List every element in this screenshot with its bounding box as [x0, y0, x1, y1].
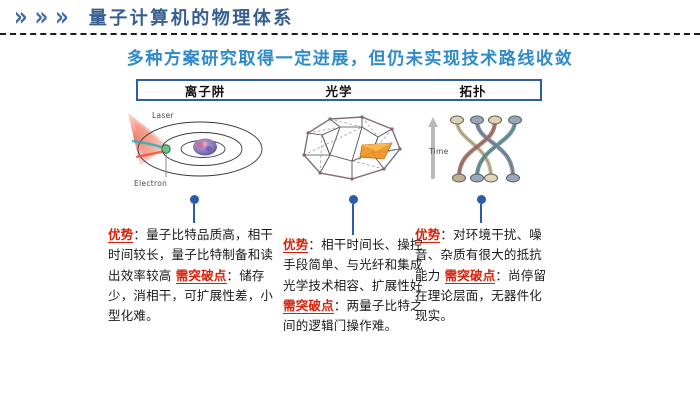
figure-ion-trap: Laser Electron [108, 103, 280, 195]
challenge-label: 需突破点 [445, 268, 496, 284]
subtitle: 多种方案研究取得一定进展，但仍未实现技术路线收敛 [0, 44, 700, 69]
chevron-right-icon: » [14, 4, 28, 30]
figure-label-laser: Laser [152, 111, 174, 120]
advantage-label: 优势 [108, 227, 133, 243]
column-optical: 优势：相干时间长、操控手段简单、与光纤和集成光学技术相容、扩展性好 需突破点：两… [283, 103, 423, 336]
slide-title-row: » » » 量子计算机的物理体系 [0, 0, 700, 34]
slide-root: » » » 量子计算机的物理体系 多种方案研究取得一定进展，但仍未实现技术路线收… [0, 0, 700, 411]
connector-topological [415, 195, 547, 223]
connector-dot-icon [477, 195, 486, 204]
column-topological: Time 优势：对环境干扰、噪音、杂质有很大的抵抗能力 需突破点：尚停留在理论层… [415, 103, 547, 326]
challenge-label: 需突破点 [176, 268, 227, 284]
description-optical: 优势：相干时间长、操控手段简单、与光纤和集成光学技术相容、扩展性好 需突破点：两… [283, 235, 423, 336]
column-ion-trap: Laser Electron 优势：量子比特品质高，相干时间较长，量子比特制备和… [108, 103, 280, 326]
connector-stem [352, 204, 354, 235]
scheme-header-bar: 离子阱 光学 拓扑 [136, 79, 542, 101]
polyhedron-photonic-lattice-icon [288, 103, 418, 195]
connector-ion-trap [108, 195, 280, 223]
challenge-label: 需突破点 [283, 298, 334, 314]
figure-label-time: Time [429, 147, 449, 156]
advantage-label: 优势 [283, 237, 308, 253]
page-title: 量子计算机的物理体系 [89, 4, 294, 30]
connector-dot-icon [190, 195, 199, 204]
description-topological: 优势：对环境干扰、噪音、杂质有很大的抵抗能力 需突破点：尚停留在理论层面，无器件… [415, 223, 547, 326]
connector-optical [283, 195, 423, 235]
figure-optical [283, 103, 423, 195]
scheme-header-topological: 拓扑 [406, 81, 540, 99]
scheme-header-ion-trap: 离子阱 [138, 81, 272, 99]
advantage-label: 优势 [415, 227, 440, 243]
chevron-right-icon: » [35, 4, 49, 30]
chevron-group: » » » [14, 7, 69, 28]
connector-stem [480, 204, 482, 223]
figure-label-electron: Electron [134, 179, 167, 188]
scheme-header-optical: 光学 [272, 81, 406, 99]
connector-dot-icon [349, 195, 358, 204]
chevron-right-icon: » [55, 4, 69, 30]
figure-topological: Time [415, 103, 547, 195]
description-ion-trap: 优势：量子比特品质高，相干时间较长，量子比特制备和读出效率较高 需突破点：储存少… [108, 223, 280, 326]
connector-stem [193, 204, 195, 223]
title-divider [0, 33, 700, 35]
